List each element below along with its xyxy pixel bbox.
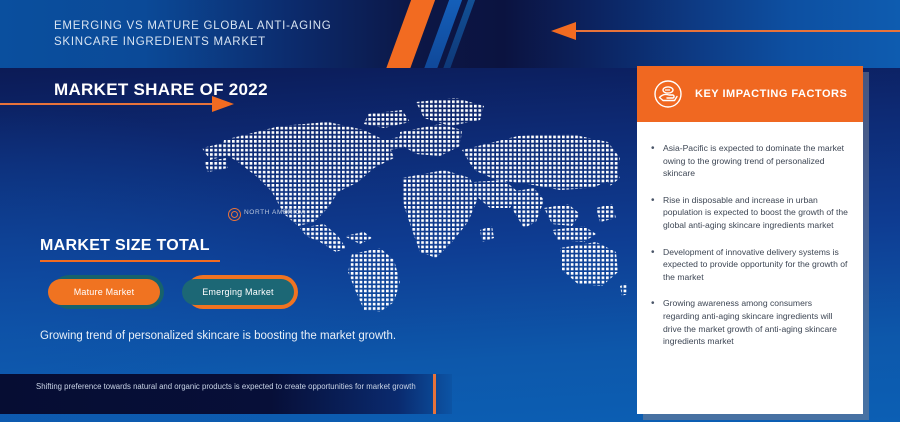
page-title: EMERGING VS MATURE GLOBAL ANTI-AGING SKI… xyxy=(54,18,331,50)
list-item-text: Growing awareness among consumers regard… xyxy=(663,297,849,347)
legend-pill-emerging-market[interactable]: Emerging Market xyxy=(186,275,298,309)
legend-pill-label: Emerging Market xyxy=(182,279,294,305)
list-item-text: Rise in disposable and increase in urban… xyxy=(663,194,849,232)
list-item: • Rise in disposable and increase in urb… xyxy=(651,194,849,232)
list-item-text: Asia-Pacific is expected to dominate the… xyxy=(663,142,849,180)
footer-accent-bar xyxy=(433,374,436,414)
market-share-rule xyxy=(0,103,214,105)
arrow-left-icon xyxy=(551,22,576,40)
list-item: • Growing awareness among consumers rega… xyxy=(651,297,849,347)
key-factors-header: KEY IMPACTING FACTORS xyxy=(637,66,863,122)
hand-coin-icon xyxy=(653,79,683,109)
header-arrow-line xyxy=(576,30,900,32)
infographic-root: EMERGING VS MATURE GLOBAL ANTI-AGING SKI… xyxy=(0,0,900,422)
footer-band xyxy=(0,374,452,414)
bullet-marker: • xyxy=(651,194,663,232)
map-region-label: NORTH AMERICA xyxy=(244,209,306,216)
footer-paragraph: Shifting preference towards natural and … xyxy=(36,381,420,392)
list-item: • Development of innovative delivery sys… xyxy=(651,246,849,284)
bullet-marker: • xyxy=(651,142,663,180)
list-item: • Asia-Pacific is expected to dominate t… xyxy=(651,142,849,180)
market-size-title: MARKET SIZE TOTAL xyxy=(40,237,210,255)
list-item-text: Development of innovative delivery syste… xyxy=(663,246,849,284)
legend-pill-mature-market[interactable]: Mature Market xyxy=(52,275,164,309)
lead-paragraph: Growing trend of personalized skincare i… xyxy=(40,328,420,344)
bullet-marker: • xyxy=(651,297,663,347)
location-circle-icon xyxy=(228,208,241,221)
key-factors-title: KEY IMPACTING FACTORS xyxy=(695,88,847,100)
key-factors-panel: KEY IMPACTING FACTORS • Asia-Pacific is … xyxy=(637,66,863,414)
key-factors-list: • Asia-Pacific is expected to dominate t… xyxy=(637,122,863,362)
bullet-marker: • xyxy=(651,246,663,284)
legend-pill-label: Mature Market xyxy=(48,279,160,305)
market-size-rule xyxy=(40,260,220,262)
header-band: EMERGING VS MATURE GLOBAL ANTI-AGING SKI… xyxy=(0,0,900,68)
